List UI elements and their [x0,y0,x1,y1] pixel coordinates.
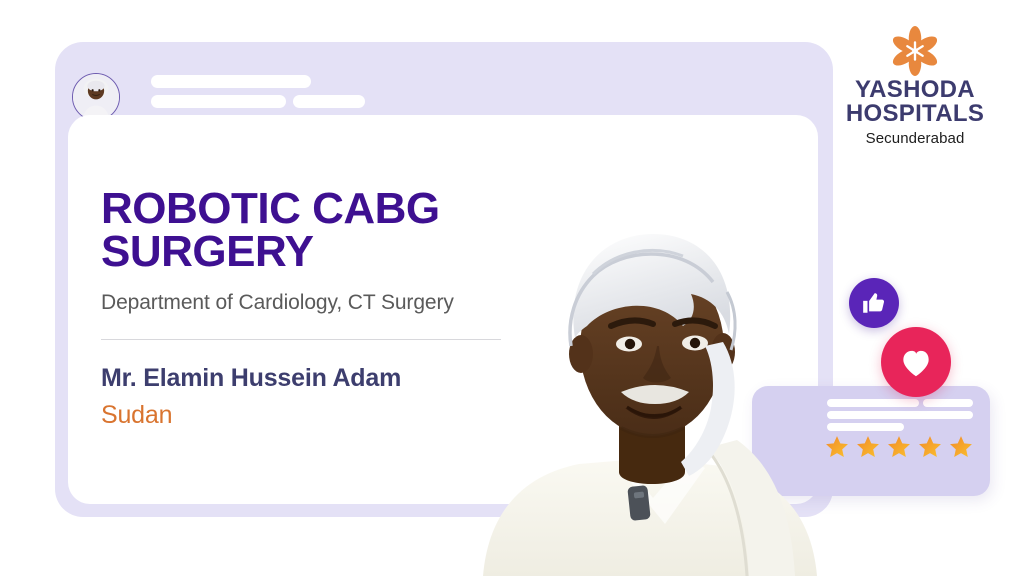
skeleton-bar [151,95,286,108]
flower-icon [840,26,990,76]
patient-country: Sudan [101,401,172,430]
star-icon [855,434,881,460]
like-reaction-badge [849,278,899,328]
patient-portrait-illustration [471,196,831,576]
brand-name-line-2: HOSPITALS [840,102,990,126]
skeleton-row [827,423,975,431]
brand-logo: YASHODA HOSPITALS Secunderabad [840,26,990,147]
star-icon [948,434,974,460]
yashoda-flower-icon [878,26,952,76]
skeleton-row [151,75,751,88]
skeleton-bar [827,399,919,407]
skeleton-bar [151,75,311,88]
patient-photo [471,196,831,576]
skeleton-row [151,95,751,108]
skeleton-row [827,411,975,419]
patient-name: Mr. Elamin Hussein Adam [101,364,401,393]
brand-name-line-1: YASHODA [840,78,990,102]
star-icon [917,434,943,460]
department-subtitle: Department of Cardiology, CT Surgery [101,291,454,315]
skeleton-bar [827,411,973,419]
skeleton-row [827,399,975,407]
avatar-portrait-icon [73,74,119,120]
thumbs-up-icon [861,290,887,316]
skeleton-bar [293,95,365,108]
skeleton-bar [923,399,973,407]
brand-city: Secunderabad [840,130,990,147]
heart-reaction-badge [881,327,951,397]
heart-icon [897,343,935,381]
testimonial-graphic: ROBOTIC CABG SURGERY Department of Cardi… [0,0,1024,576]
divider [101,339,501,340]
review-skeleton-lines [827,399,975,435]
star-rating [824,434,974,460]
avatar [72,73,120,121]
star-icon [886,434,912,460]
skeleton-bar [827,423,904,431]
